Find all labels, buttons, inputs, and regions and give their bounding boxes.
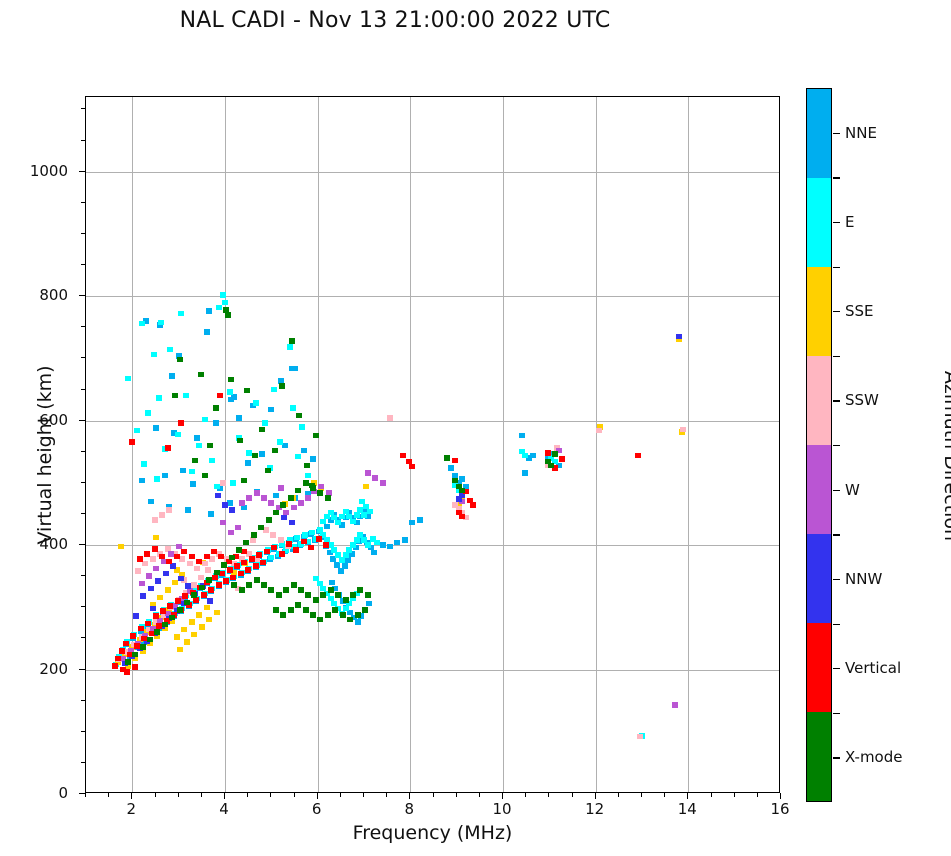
data-marker [310,612,316,618]
data-marker [259,451,265,457]
data-marker [258,525,264,531]
data-marker [283,587,289,593]
data-marker [254,490,260,496]
data-marker [115,656,121,662]
data-marker [366,601,372,607]
y-axis-tick-label: 0 [58,784,68,802]
data-marker [153,425,159,431]
data-marker [167,347,173,353]
data-marker [409,464,415,470]
data-marker [273,493,279,499]
data-marker [147,637,153,643]
data-marker [184,600,190,606]
y-axis-minor-tick [81,575,85,576]
data-marker [290,405,296,411]
x-axis-tick-label: 16 [770,800,789,818]
data-marker [277,439,283,445]
x-axis-tick [131,793,132,799]
data-marker [138,626,144,632]
data-marker [246,582,252,588]
x-axis-minor-tick [479,793,480,797]
data-marker [148,586,154,592]
data-marker [268,555,274,561]
data-marker [142,561,148,567]
colorbar-label-e: E [845,213,854,231]
data-marker [308,545,314,551]
data-marker [317,617,323,623]
data-marker [548,463,554,469]
data-marker [316,536,322,542]
x-axis-minor-tick [247,793,248,797]
colorbar-label-ssw: SSW [845,391,879,409]
data-marker [354,512,360,518]
data-marker [177,647,183,653]
y-axis-minor-tick [81,357,85,358]
data-marker [156,395,162,401]
data-marker [196,443,202,449]
data-marker [680,427,686,433]
data-marker [298,587,304,593]
data-marker [249,556,255,562]
data-marker [190,481,196,487]
data-marker [253,400,259,406]
data-marker [365,470,371,476]
data-marker [339,514,345,520]
y-axis-tick-label: 200 [39,660,68,678]
colorbar-tick [833,133,840,134]
y-axis-minor-tick [81,762,85,763]
x-axis-tick-label: 10 [492,800,511,818]
data-marker [265,468,271,474]
data-marker [288,495,294,501]
x-axis-minor-tick [433,793,434,797]
colorbar [806,88,832,802]
data-marker [298,500,304,506]
data-marker [169,615,175,621]
data-marker [181,549,187,555]
data-marker [254,577,260,583]
data-marker [189,469,195,475]
data-marker [229,507,235,513]
x-axis-tick [317,793,318,799]
data-marker [124,669,130,675]
colorbar-boundary-tick [833,713,840,714]
x-axis-tick-label: 4 [219,800,229,818]
data-marker [238,571,244,577]
data-marker [145,621,151,627]
data-marker [417,517,423,523]
data-marker [241,478,247,484]
data-marker [328,587,334,593]
data-marker [194,435,200,441]
y-axis-tick-label: 800 [39,286,68,304]
y-axis-minor-tick [81,731,85,732]
data-marker [325,612,331,618]
data-marker [214,570,220,576]
data-layer [86,97,779,792]
data-marker [230,480,236,486]
data-marker [159,554,165,560]
y-axis-minor-tick [81,140,85,141]
x-axis-minor-tick [178,793,179,797]
data-marker [470,502,476,508]
data-marker [150,556,156,562]
data-marker [409,520,415,526]
data-marker [174,554,180,560]
data-marker [202,417,208,423]
data-marker [178,420,184,426]
data-marker [343,597,349,603]
data-marker [172,393,178,399]
data-marker [270,532,276,538]
data-marker [218,554,224,560]
data-marker [189,619,195,625]
data-marker [187,561,193,567]
data-marker [268,587,274,593]
data-marker [343,606,349,612]
plot-area [85,96,780,793]
data-marker [192,458,198,464]
x-axis-minor-tick [711,793,712,797]
data-marker [350,542,356,548]
data-marker [154,629,160,635]
x-axis-tick [687,793,688,799]
data-marker [280,502,286,508]
data-marker [150,606,156,612]
data-marker [522,470,528,476]
data-marker [159,512,165,518]
data-marker [202,561,208,567]
data-marker [339,557,345,563]
data-marker [371,550,377,556]
x-axis-minor-tick [155,793,156,797]
data-marker [153,566,159,572]
data-marker [338,568,344,574]
data-marker [335,592,341,598]
x-axis-title: Frequency (MHz) [85,822,780,844]
data-marker [227,389,233,395]
data-marker [276,592,282,598]
data-marker [317,490,323,496]
data-marker [151,352,157,358]
data-marker [273,607,279,613]
data-marker [320,519,326,525]
data-marker [448,465,454,471]
x-axis-tick [224,793,225,799]
data-marker [320,592,326,598]
y-axis-tick [79,171,85,172]
x-axis-tick [409,793,410,799]
data-marker [208,511,214,517]
page-title: NAL CADI - Nov 13 21:00:00 2022 UTC [0,8,790,33]
data-marker [236,547,242,553]
data-marker [552,451,558,457]
data-marker [318,484,324,490]
x-axis-minor-tick [456,793,457,797]
data-marker [282,443,288,449]
colorbar-segment-x-mode [807,712,831,801]
data-marker [146,573,152,579]
data-marker [280,612,286,618]
y-axis-tick [79,295,85,296]
data-marker [180,468,186,474]
data-marker [139,478,145,484]
data-marker [340,612,346,618]
data-marker [162,473,168,479]
data-marker [209,458,215,464]
data-marker [213,420,219,426]
data-marker [193,597,199,603]
data-marker [519,433,525,439]
x-axis-minor-tick [664,793,665,797]
data-marker [241,505,247,511]
data-marker [148,499,154,505]
data-marker [301,448,307,454]
data-marker [145,410,151,416]
data-marker [313,433,319,439]
data-marker [239,500,245,506]
data-marker [123,641,129,647]
data-marker [342,563,348,569]
colorbar-tick [833,490,840,491]
x-axis-minor-tick [85,793,86,797]
data-marker [231,582,237,588]
data-marker [596,428,602,434]
x-axis-minor-tick [386,793,387,797]
data-marker [309,483,315,489]
data-marker [196,612,202,618]
data-marker [182,593,188,599]
data-marker [174,634,180,640]
y-axis-minor-tick [81,389,85,390]
data-marker [305,495,311,501]
data-marker [303,480,309,486]
data-marker [294,535,300,541]
data-marker [185,507,191,513]
data-marker [130,633,136,639]
data-marker [166,507,172,513]
data-marker [208,587,214,593]
data-marker [387,415,393,421]
data-marker [272,448,278,454]
data-marker [281,515,287,521]
data-marker [204,329,210,335]
y-axis-minor-tick [81,451,85,452]
colorbar-segment-w [807,445,831,534]
data-marker [304,463,310,469]
data-marker [133,613,139,619]
x-axis-minor-tick [572,793,573,797]
data-marker [452,478,458,484]
data-marker [302,532,308,538]
data-marker [204,554,210,560]
data-marker [118,544,124,550]
x-axis-tick [595,793,596,799]
data-marker [264,549,270,555]
data-marker [346,547,352,553]
data-marker [227,567,233,573]
y-axis-minor-tick [81,606,85,607]
data-marker [291,582,297,588]
data-marker [140,593,146,599]
data-marker [452,458,458,464]
x-axis-minor-tick [270,793,271,797]
data-marker [112,663,118,669]
x-axis-tick-label: 6 [312,800,322,818]
colorbar-segment-ssw [807,356,831,445]
data-marker [309,530,315,536]
data-marker [220,520,226,526]
data-marker [196,559,202,565]
y-axis-minor-tick [81,482,85,483]
y-axis-minor-tick [81,637,85,638]
y-axis-tick [79,793,85,794]
data-marker [372,475,378,481]
data-marker [367,509,373,515]
data-marker [178,576,184,582]
data-marker [262,420,268,426]
colorbar-segment-vertical [807,623,831,712]
data-marker [198,575,204,581]
colorbar-label-nne: NNE [845,124,877,142]
colorbar-segment-nnw [807,534,831,623]
data-marker [199,624,205,630]
data-marker [374,540,380,546]
data-marker [303,607,309,613]
colorbar-segment-e [807,178,831,267]
data-marker [287,344,293,350]
data-marker [545,450,551,456]
data-marker [402,537,408,543]
data-marker [165,587,171,593]
data-marker [293,547,299,553]
data-marker [204,605,210,611]
data-marker [400,453,406,459]
data-marker [252,453,258,459]
x-axis-minor-tick [757,793,758,797]
data-marker [324,524,330,530]
data-marker [236,415,242,421]
x-axis-tick-label: 8 [405,800,415,818]
data-marker [637,734,643,740]
data-marker [175,432,181,438]
data-marker [217,393,223,399]
data-marker [183,393,189,399]
data-marker [459,514,465,520]
data-marker [139,321,145,327]
data-marker [223,578,229,584]
data-marker [676,334,682,340]
data-marker [228,530,234,536]
data-marker [234,563,240,569]
data-marker [152,517,158,523]
colorbar-tick [833,400,840,401]
data-marker [167,603,173,609]
data-marker [129,439,135,445]
x-axis-tick-label: 14 [678,800,697,818]
x-axis-minor-tick [108,793,109,797]
data-marker [261,582,267,588]
x-axis-minor-tick [734,793,735,797]
data-marker [278,485,284,491]
data-marker [268,407,274,413]
data-marker [139,581,145,587]
data-marker [273,510,279,516]
data-marker [137,556,143,562]
data-marker [191,582,197,588]
data-marker [350,592,356,598]
data-marker [166,559,172,565]
data-marker [185,583,191,589]
data-marker [189,554,195,560]
data-marker [154,476,160,482]
data-marker [216,305,222,311]
data-marker [229,555,235,561]
y-axis-minor-tick [81,108,85,109]
data-marker [261,495,267,501]
y-axis-minor-tick [81,326,85,327]
data-marker [301,539,307,545]
colorbar-tick [833,757,840,758]
data-marker [251,532,257,538]
y-axis-tick [79,669,85,670]
data-marker [132,652,138,658]
data-marker [559,456,565,462]
data-marker [165,445,171,451]
data-marker [357,587,363,593]
data-marker [246,495,252,501]
data-marker [221,562,227,568]
data-marker [245,460,251,466]
data-marker [459,476,465,482]
data-marker [253,563,259,569]
data-marker [260,560,266,566]
data-marker [672,702,678,708]
data-marker [295,602,301,608]
data-marker [334,562,340,568]
data-marker [206,577,212,583]
x-axis-minor-tick [641,793,642,797]
x-axis-minor-tick [618,793,619,797]
data-marker [175,598,181,604]
data-marker [279,551,285,557]
colorbar-label-w: W [845,481,860,499]
colorbar-boundary-tick [833,624,840,625]
data-marker [199,585,205,591]
data-marker [169,373,175,379]
data-marker [235,525,241,531]
colorbar-boundary-tick [833,267,840,268]
data-marker [245,567,251,573]
data-marker [343,552,349,558]
data-marker [222,502,228,508]
y-axis-minor-tick [81,233,85,234]
colorbar-boundary-tick [833,445,840,446]
data-marker [228,377,234,383]
data-marker [459,488,465,494]
data-marker [279,383,285,389]
data-marker [184,639,190,645]
x-axis-tick [502,793,503,799]
data-marker [211,549,217,555]
data-marker [140,644,146,650]
data-marker [291,505,297,511]
data-marker [394,540,400,546]
colorbar-tick [833,222,840,223]
data-marker [380,480,386,486]
data-marker [295,488,301,494]
data-marker [332,607,338,613]
